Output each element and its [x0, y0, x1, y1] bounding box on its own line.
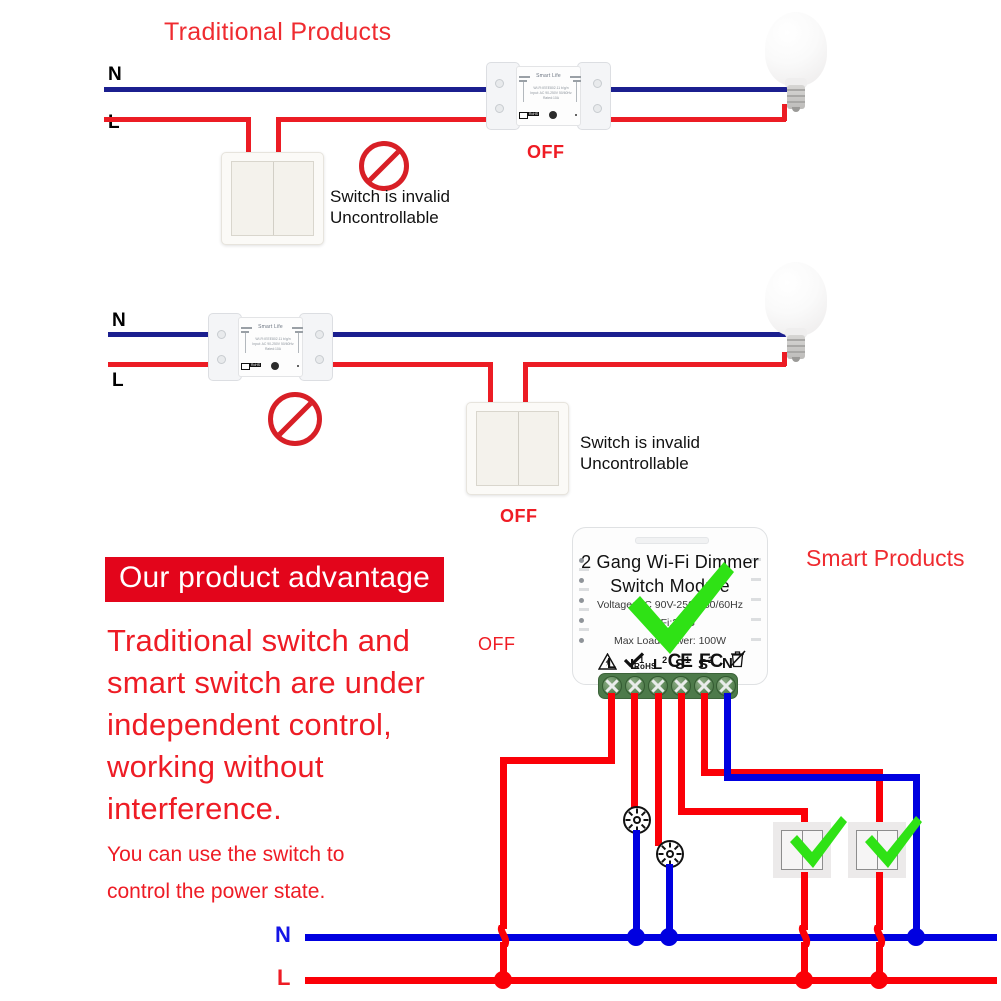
advantage-line-5: interference. [107, 788, 487, 830]
wire-L-down-to-rail [500, 757, 507, 929]
wire-n-left-mid [108, 332, 208, 337]
relay-brand-label-mid: Smart Life [208, 324, 333, 330]
advantage-line-3: independent control, [107, 704, 487, 746]
wire-l-drop-switch-left-mid [488, 362, 493, 402]
relay-rohs-mark: RoHS [528, 112, 539, 116]
terminal-label-N: N [722, 655, 733, 672]
wire-l-right-top [610, 117, 786, 122]
wire-l-mid-top [276, 117, 486, 122]
wall-switch-2gang-icon-top[interactable] [221, 152, 324, 245]
switch-state-label-mid: OFF [500, 506, 538, 527]
traditional2-rail-n-label: N [112, 310, 126, 332]
bottom-rail-n-label: N [275, 922, 291, 948]
advantage-banner: Our product advantage [105, 557, 444, 602]
green-check-icon-switch-2 [861, 814, 923, 870]
junction-dot-N-rail-2 [660, 928, 678, 946]
advantage-line-1: Traditional switch and [107, 620, 487, 662]
wiring-diagram-canvas: Traditional Products N L Smart Life Wi-F… [0, 0, 1001, 1001]
module-top-slot [635, 537, 709, 544]
terminal-label-L1: L1 [630, 655, 644, 673]
wire-lamp1-to-n [633, 830, 640, 938]
terminal-label-L2: L2 [653, 655, 667, 673]
note-line-1-mid: Switch is invalid [580, 432, 700, 453]
wire-S2-drop [701, 693, 708, 775]
bottom-rail-n [305, 934, 997, 941]
smart-products-heading: Smart Products [806, 545, 965, 572]
note-line-2-mid: Uncontrollable [580, 453, 700, 474]
advantage-line-4: working without [107, 746, 487, 788]
wire-l-relay-out-mid [332, 362, 492, 367]
bottom-rail-l [305, 977, 997, 984]
relay-state-label-top: OFF [527, 142, 565, 163]
wire-l-drop-to-switch-left [246, 117, 251, 153]
bottom-rail-l-label: L [277, 965, 290, 991]
no-entry-icon-top [359, 141, 409, 191]
wall-switch-2gang-icon-mid[interactable] [466, 402, 569, 495]
smart-life-relay-module-top: Smart Life Wi-Fi:IEEE802.11 b/g/n Input:… [486, 62, 611, 130]
relay-rohs-mark-mid: RoHS [250, 363, 261, 367]
relay-spec-text: Wi-Fi:IEEE802.11 b/g/n Input: AC 90-250V… [509, 86, 594, 101]
junction-dot-L-rail-1 [494, 971, 512, 989]
traditional-products-heading: Traditional Products [164, 18, 391, 47]
note-line-2: Uncontrollable [330, 207, 450, 228]
wire-L-drop [608, 693, 615, 761]
dimmer-state-label: OFF [478, 634, 516, 655]
junction-dot-L-rail-2 [795, 971, 813, 989]
junction-dot-N-rail-1 [627, 928, 645, 946]
wire-switch2-to-l [876, 872, 883, 930]
wire-N-drop [724, 693, 731, 779]
no-entry-icon-mid [268, 392, 322, 446]
terminal-label-L: L [607, 655, 616, 672]
light-bulb-icon-mid [765, 262, 827, 362]
wire-N-right-run [724, 774, 920, 781]
wire-l-drop-switch-right-mid [523, 362, 528, 402]
terminal-label-S2: S2 [698, 655, 713, 673]
relay-brand-label: Smart Life [486, 73, 611, 79]
green-check-icon-module [620, 558, 738, 658]
wire-l-left-top [104, 117, 250, 122]
wire-n-left-top [104, 87, 486, 92]
junction-dot-L-rail-3 [870, 971, 888, 989]
traditional2-rail-l-label: L [112, 370, 124, 392]
light-bulb-icon [765, 12, 827, 112]
wire-l-drop-to-switch-right [276, 117, 281, 153]
traditional-note-top: Switch is invalid Uncontrollable [330, 186, 450, 228]
traditional-rail-n-label: N [108, 64, 122, 86]
wire-L-left-run [500, 757, 615, 764]
wire-L1-to-lamp1 [631, 693, 638, 813]
advantage-sub-line-1: You can use the switch to [107, 836, 487, 873]
advantage-subtext: You can use the switch to control the po… [107, 836, 487, 910]
advantage-sub-line-2: control the power state. [107, 873, 487, 910]
advantage-line-2: smart switch are under [107, 662, 487, 704]
advantage-body: Traditional switch and smart switch are … [107, 620, 487, 830]
relay-spec-text-mid: Wi-Fi:IEEE802.11 b/g/n Input: AC 90-250V… [231, 337, 316, 352]
junction-dot-N-rail-3 [907, 928, 925, 946]
traditional-rail-l-label: L [108, 112, 120, 134]
wire-S1-drop [678, 693, 685, 815]
wire-lamp2-to-n [666, 864, 673, 938]
wire-l-left-mid [108, 362, 208, 367]
wire-switch1-to-l [801, 872, 808, 930]
wire-L-hop-arc [494, 925, 514, 947]
traditional2-note: Switch is invalid Uncontrollable [580, 432, 700, 474]
note-line-1: Switch is invalid [330, 186, 450, 207]
smart-life-relay-module-mid: Smart Life Wi-Fi:IEEE802.11 b/g/n Input:… [208, 313, 333, 381]
advantage-banner-text: Our product advantage [105, 557, 444, 602]
wire-L2-to-lamp2 [655, 693, 662, 846]
wire-n-right-mid [332, 332, 800, 337]
terminal-label-S1: S1 [675, 655, 690, 673]
green-check-icon-switch-1 [786, 814, 848, 870]
wire-l-to-bulb-mid [523, 362, 786, 367]
